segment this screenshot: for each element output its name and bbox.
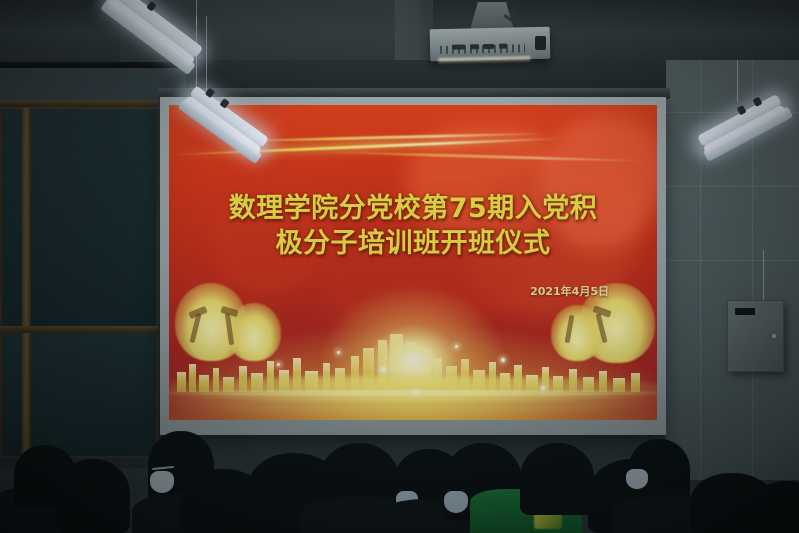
wall-tile-line — [666, 186, 799, 187]
audience-head — [520, 443, 594, 515]
slide-sparkle — [541, 386, 545, 390]
audience-head — [56, 459, 130, 533]
projector-port — [470, 44, 479, 49]
face-mask — [150, 471, 174, 493]
ceiling-beam — [395, 0, 433, 60]
ceiling-projector[interactable] — [430, 27, 551, 62]
slide-title: 数理学院分党校第75期入党积 极分子培训班开班仪式 — [169, 191, 657, 261]
slide-ground-arc — [169, 384, 657, 414]
projector-cable-box — [535, 36, 546, 50]
face-mask — [444, 491, 468, 513]
lamp-suspension-rod — [737, 60, 738, 102]
slide-sparkle — [501, 358, 505, 362]
slide-ground-arc — [169, 390, 657, 396]
blackboard-frame — [0, 100, 158, 107]
audience-silhouettes — [0, 415, 799, 533]
slide-title-line-2: 极分子培训班开班仪式 — [183, 226, 643, 261]
blackboard-frame — [0, 326, 158, 333]
wall-control-cabinet[interactable] — [727, 300, 784, 372]
audience-head — [752, 481, 799, 533]
blackboard-frame — [22, 108, 31, 458]
face-mask — [626, 469, 648, 489]
projector-port — [452, 45, 465, 50]
slide-sparkle — [455, 345, 458, 348]
projector-port — [499, 44, 507, 49]
cabinet-wire — [763, 250, 764, 302]
cabinet-label-plate — [735, 308, 755, 315]
cabinet-knob[interactable] — [772, 334, 776, 338]
slide-sparkle — [337, 351, 340, 354]
slide-date: 2021年4月5日 — [530, 283, 609, 299]
slide-sparkle — [381, 367, 386, 372]
slide-sparkle — [277, 363, 280, 366]
wall-tile-line — [666, 260, 799, 261]
classroom-photo-scene: 数理学院分党校第75期入党积 极分子培训班开班仪式 2021年4月5日 — [0, 0, 799, 533]
slide-sparkle — [415, 391, 418, 394]
slide-title-line-1: 数理学院分党校第75期入党积 — [183, 191, 643, 226]
projector-port — [483, 44, 494, 49]
